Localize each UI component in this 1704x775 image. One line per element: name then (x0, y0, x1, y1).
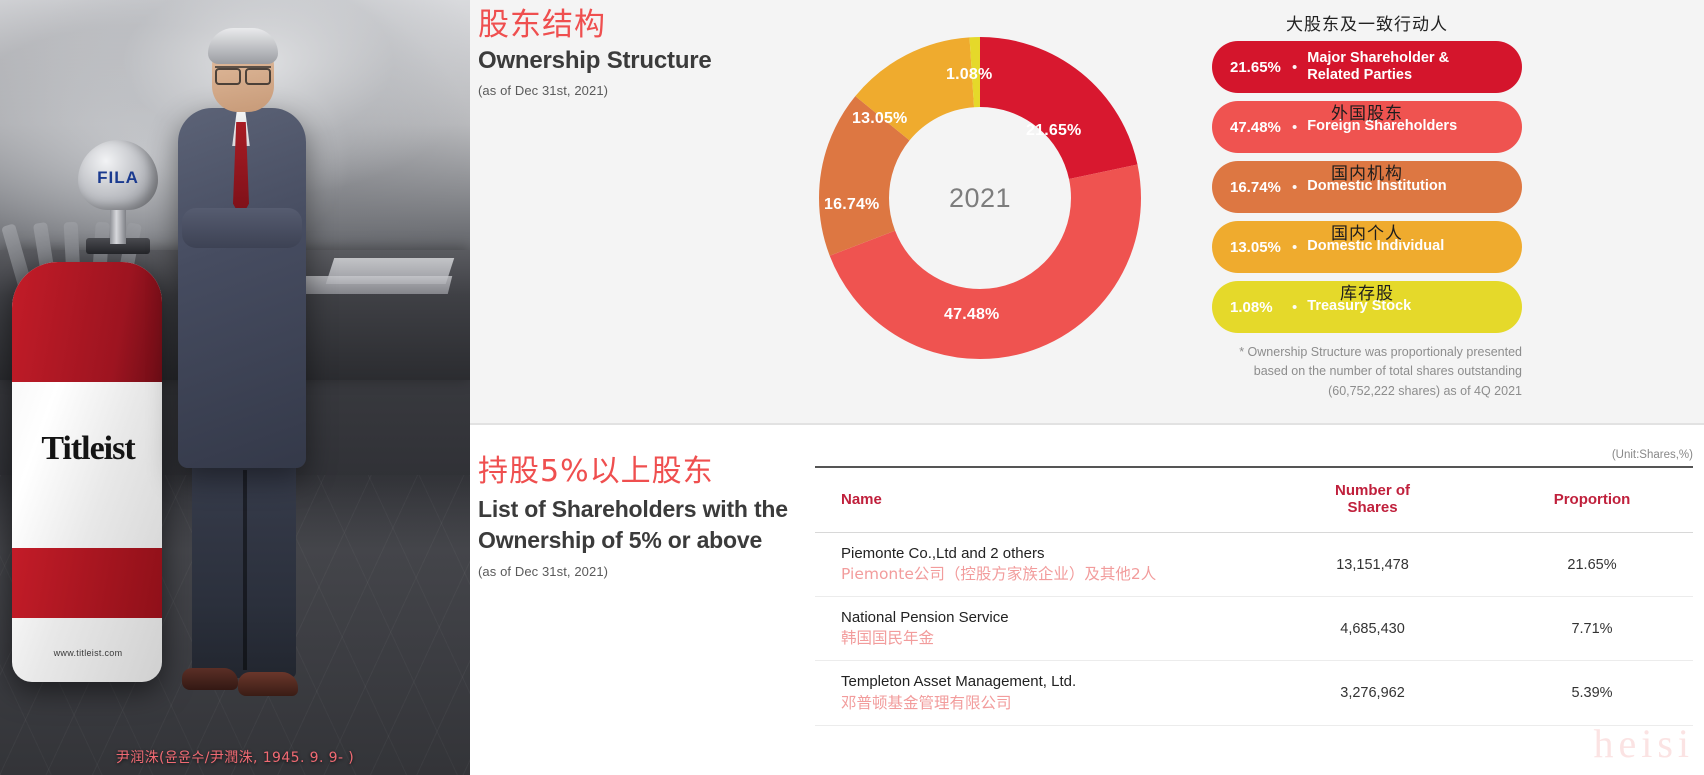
bullet-dot-icon: • (1292, 239, 1297, 256)
donut-label-treasury-stock: 1.08% (946, 66, 992, 84)
legend-pct-domestic-institution: 16.74% (1230, 179, 1288, 196)
legend-item-domestic-individual[interactable]: 国内个人 13.05% • Domestic Individual (1212, 221, 1522, 273)
cell-name: National Pension Service 韩国国民年金 (815, 597, 1254, 661)
legend-labels-domestic-institution: Domestic Institution (1307, 178, 1446, 195)
cell-shares: 13,151,478 (1254, 533, 1491, 597)
donut-label-domestic-individual: 13.05% (852, 110, 907, 128)
bullet-dot-icon: • (1292, 299, 1297, 316)
bullet-dot-icon: • (1292, 179, 1297, 196)
row-name-en: Piemonte Co.,Ltd and 2 others (841, 544, 1254, 564)
table-row[interactable]: Piemonte Co.,Ltd and 2 others Piemonte公司… (815, 533, 1693, 597)
column-header-name: Name (815, 467, 1254, 533)
row-name-cn: 邓普顿基金管理有限公司 (841, 693, 1254, 714)
legend-labels-major-shareholder: Major Shareholder & Related Parties (1307, 50, 1449, 84)
cell-name: Templeton Asset Management, Ltd. 邓普顿基金管理… (815, 661, 1254, 725)
trophy-brand-text: FILA (92, 168, 144, 188)
watermark: heisi (1593, 720, 1694, 767)
row-name-cn: 韩国国民年金 (841, 628, 1254, 649)
cell-shares: 3,276,962 (1254, 661, 1491, 725)
person-folded-arms (182, 208, 302, 248)
donut-center-hole: 2021 (908, 126, 1052, 270)
table-body: Piemonte Co.,Ltd and 2 others Piemonte公司… (815, 533, 1693, 726)
legend-pct-major-shareholder: 21.65% (1230, 59, 1288, 76)
table-row[interactable]: Templeton Asset Management, Ltd. 邓普顿基金管理… (815, 661, 1693, 725)
legend-en-domestic-individual: Domestic Individual (1307, 238, 1444, 255)
cell-shares: 4,685,430 (1254, 597, 1491, 661)
legend-labels-domestic-individual: Domestic Individual (1307, 238, 1444, 255)
legend-en-treasury-stock: Treasury Stock (1307, 298, 1411, 315)
person-hair (208, 28, 278, 64)
legend-item-foreign-shareholders[interactable]: 外国股东 47.48% • Foreign Shareholders (1212, 101, 1522, 153)
person-shoe-right (238, 672, 298, 696)
legend-en-foreign-shareholders: Foreign Shareholders (1307, 118, 1457, 135)
column-header-shares: Number of Shares (1254, 467, 1491, 533)
column-header-proportion: Proportion (1491, 467, 1693, 533)
legend-pct-treasury-stock: 1.08% (1230, 299, 1288, 316)
table-unit-label: (Unit:Shares,%) (815, 449, 1693, 461)
table-row[interactable]: National Pension Service 韩国国民年金 4,685,43… (815, 597, 1693, 661)
legend-heading-cn: 大股东及一致行动人 (1212, 10, 1522, 35)
ownership-donut-chart: 2021 21.65% 47.48% 16.74% 13.05% 1.08% (800, 18, 1160, 378)
legend-item-domestic-institution[interactable]: 国内机构 16.74% • Domestic Institution (1212, 161, 1522, 213)
portrait-photo: Titleist www.titleist.com FILA 尹润洙(윤윤수/尹… (0, 0, 470, 775)
cell-proportion: 7.71% (1491, 597, 1693, 661)
row-name-en: National Pension Service (841, 608, 1254, 628)
person-leg-split (243, 470, 247, 670)
shareholders-en-title: List of Shareholders with the Ownership … (478, 494, 808, 556)
legend-pct-foreign-shareholders: 47.48% (1230, 119, 1288, 136)
table-header: Name Number of Shares Proportion (815, 467, 1693, 533)
cell-name: Piemonte Co.,Ltd and 2 others Piemonte公司… (815, 533, 1254, 597)
shareholders-cn-title: 持股5%以上股东 (478, 455, 808, 490)
donut-label-major-shareholder: 21.65% (1026, 122, 1081, 140)
legend-labels-treasury-stock: Treasury Stock (1307, 298, 1411, 315)
legend-en-domestic-institution: Domestic Institution (1307, 178, 1446, 195)
shareholders-as-of: (as of Dec 31st, 2021) (478, 564, 808, 579)
column-header-shares-line1: Number of (1254, 482, 1491, 499)
legend-pct-domestic-individual: 13.05% (1230, 239, 1288, 256)
donut-label-domestic-institution: 16.74% (824, 196, 879, 214)
bullet-dot-icon: • (1292, 119, 1297, 136)
legend-item-major-shareholder[interactable]: 21.65% • Major Shareholder & Related Par… (1212, 41, 1522, 93)
golf-bag-top-panel (12, 262, 162, 382)
page-root: Titleist www.titleist.com FILA 尹润洙(윤윤수/尹… (0, 0, 1704, 775)
row-name-cn: Piemonte公司（控股方家族企业）及其他2人 (841, 564, 1254, 585)
shareholders-title-block: 持股5%以上股东 List of Shareholders with the O… (478, 455, 808, 579)
legend-item-treasury-stock[interactable]: 库存股 1.08% • Treasury Stock (1212, 281, 1522, 333)
column-header-shares-line2: Shares (1254, 499, 1491, 516)
ownership-structure-section: 股东结构 Ownership Structure (as of Dec 31st… (470, 0, 1704, 424)
golf-bag-brand-text: Titleist (20, 430, 156, 468)
golf-bag-bottom-panel (12, 548, 162, 618)
legend-en-major-shareholder-line1: Major Shareholder & (1307, 50, 1449, 67)
donut-label-foreign-shareholders: 47.48% (944, 306, 999, 324)
golf-bag-url-text: www.titleist.com (20, 648, 156, 658)
ownership-legend: 大股东及一致行动人 21.65% • Major Shareholder & R… (1212, 10, 1522, 401)
shareholders-table: Name Number of Shares Proportion Piemont… (815, 466, 1693, 726)
glasses-icon (215, 66, 271, 79)
photo-caption: 尹润洙(윤윤수/尹潤洙, 1945. 9. 9- ) (0, 747, 470, 767)
desk-papers-secondary (298, 276, 452, 294)
shareholder-list-section: 持股5%以上股东 List of Shareholders with the O… (470, 425, 1704, 775)
legend-labels-foreign-shareholders: Foreign Shareholders (1307, 118, 1457, 135)
legend-en-major-shareholder-line2: Related Parties (1307, 67, 1449, 84)
donut-center-year: 2021 (949, 183, 1011, 214)
person-shoe-left (182, 668, 238, 690)
cell-proportion: 5.39% (1491, 661, 1693, 725)
bullet-dot-icon: • (1292, 59, 1297, 76)
row-name-en: Templeton Asset Management, Ltd. (841, 672, 1254, 692)
table-header-row: Name Number of Shares Proportion (815, 467, 1693, 533)
cell-proportion: 21.65% (1491, 533, 1693, 597)
shareholders-table-wrap: (Unit:Shares,%) Name Number of Shares Pr… (815, 449, 1693, 726)
ownership-footnote: * Ownership Structure was proportionaly … (1212, 343, 1522, 401)
